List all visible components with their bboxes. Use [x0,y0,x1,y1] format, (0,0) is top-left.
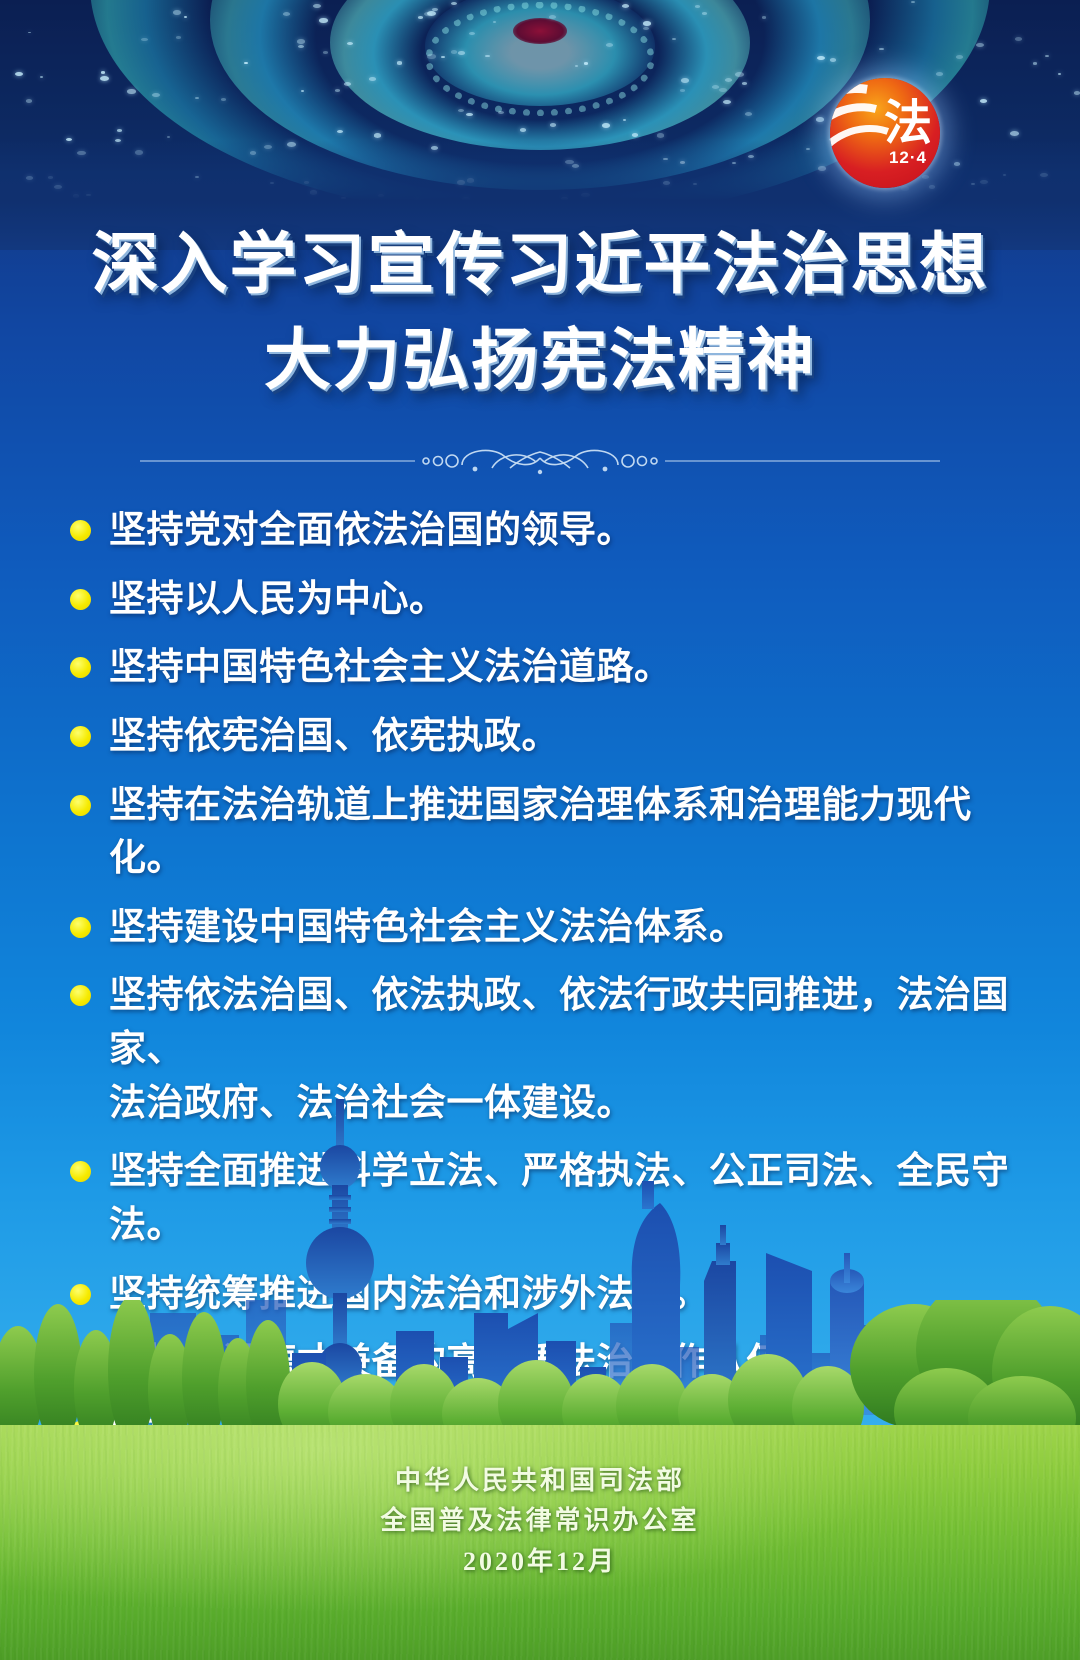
star-dot [1015,37,1023,41]
poster-root: 法 12·4 深入学习宣传习近平法治思想 大力弘扬宪法精神 [0,0,1080,1660]
star-dot [127,89,135,94]
list-item: 坚持建设中国特色社会主义法治体系。 [70,901,1020,955]
list-item-line-1: 坚持依法治国、依法执政、依法行政共同推进，法治国家、 [109,975,1009,1070]
star-dot [980,99,987,103]
list-item-line-1: 坚持建设中国特色社会主义法治体系。 [109,907,747,948]
star-dot [1058,73,1062,75]
title-line-2: 大力弘扬宪法精神 [0,318,1080,404]
star-dot [141,38,148,42]
star-dot [712,85,719,89]
star-dot [725,78,732,82]
star-dot [397,61,403,64]
list-item-line-1: 坚持以人民为中心。 [109,579,447,620]
star-dot [283,12,291,16]
star-dot [816,117,824,121]
list-item: 坚持在法治轨道上推进国家治理体系和治理能力现代化。 [70,779,1020,886]
star-dot [956,55,963,59]
bullet-dot-icon [70,917,91,938]
list-item-text: 坚持中国特色社会主义法治道路。 [109,641,672,695]
star-dot [152,93,160,97]
star-dot [622,4,630,8]
star-dot [719,88,727,92]
star-dot [623,119,626,121]
star-dot [817,56,825,60]
star-dot [458,51,464,55]
list-item-line-1: 坚持党对全面依法治国的领导。 [109,510,634,551]
star-dot [602,123,610,128]
star-dot [498,111,504,114]
star-dot [584,62,589,65]
poster-footer: 中华人民共和国司法部 全国普及法律常识办公室 2020年12月 [0,1461,1080,1582]
star-dot [427,11,436,16]
star-dot [466,113,473,117]
star-dot [762,16,766,18]
list-item: 坚持党对全面依法治国的领导。 [70,504,1020,558]
star-dot [301,90,305,92]
poster-title-block: 深入学习宣传习近平法治思想 大力弘扬宪法精神 [0,222,1080,404]
star-dot [680,89,685,92]
star-dot [418,16,423,19]
star-dot [297,39,305,43]
star-dot [1010,131,1019,136]
star-dot [313,4,321,8]
bullet-dot-icon [70,657,91,678]
bullet-dot-icon [70,589,91,610]
star-dot [695,5,700,8]
list-item-line-1: 坚持在法治轨道上推进国家治理体系和治理能力现代化。 [109,785,972,880]
star-dot [550,123,556,126]
star-dot [657,133,665,137]
footer-date: 2020年12月 [0,1542,1080,1582]
star-dot [643,21,651,25]
footer-organization: 中华人民共和国司法部 [0,1461,1080,1501]
star-dot [184,16,187,18]
star-dot [632,133,639,137]
star-dot [549,15,556,19]
bullet-dot-icon [70,520,91,541]
star-dot [441,56,444,58]
list-item-line-1: 坚持依宪治国、依宪执政。 [109,716,559,757]
list-item-text: 坚持依宪治国、依宪执政。 [109,710,559,764]
star-dot [374,133,382,137]
star-dot [469,32,475,35]
star-dot [298,45,304,48]
star-dot [26,99,32,102]
star-dot [221,98,226,101]
star-dot [493,21,496,23]
star-dot [176,36,181,39]
star-dot [520,128,526,131]
list-item-line-1: 坚持中国特色社会主义法治道路。 [109,647,672,688]
star-dot [427,54,435,58]
constitution-day-logo-icon: 法 12·4 [830,78,940,188]
star-dot [451,50,457,53]
star-dot [28,32,31,34]
list-item-text: 坚持以人民为中心。 [109,573,447,627]
star-dot [575,65,578,67]
star-dot [100,76,109,81]
star-dot [830,58,836,61]
star-dot [167,136,170,138]
star-dot [15,72,23,77]
star-dot [735,72,744,77]
star-dot [672,38,676,40]
star-dot [742,82,747,85]
star-dot [347,42,353,46]
star-dot [244,62,247,64]
logo-character: 法 [884,100,932,148]
list-item-text: 坚持建设中国特色社会主义法治体系。 [109,901,747,955]
star-dot [451,2,457,5]
star-dot [323,51,328,54]
star-dot [458,109,464,113]
star-dot [1033,62,1037,64]
star-dot [745,112,753,116]
ornament-divider [0,428,1080,478]
star-dot [40,76,43,78]
star-dot [117,129,122,132]
list-item-text: 坚持党对全面依法治国的领导。 [109,504,634,558]
star-dot [1045,55,1050,57]
star-dot [344,82,352,86]
title-line-1: 深入学习宣传习近平法治思想 [0,222,1080,308]
star-dot [335,89,340,92]
star-dot [643,27,650,31]
bullet-dot-icon [70,726,91,747]
star-dot [702,12,707,15]
star-dot [173,10,181,15]
star-dot [369,77,376,81]
star-dot [911,1,915,3]
star-dot [723,100,731,104]
star-dot [337,130,342,133]
star-dot [606,43,613,47]
star-dot [101,71,105,73]
star-dot [195,97,199,99]
list-item: 坚持以人民为中心。 [70,573,1020,627]
star-dot [879,48,883,50]
footer-office: 全国普及法律常识办公室 [0,1501,1080,1541]
bullet-dot-icon [70,985,91,1006]
bullet-dot-icon [70,795,91,816]
star-dot [1074,91,1080,94]
star-dot [319,18,327,23]
star-dot [976,43,984,47]
list-item-text: 坚持在法治轨道上推进国家治理体系和治理能力现代化。 [109,779,1020,886]
logo-date-label: 12·4 [889,148,927,168]
list-item: 坚持依宪治国、依宪执政。 [70,710,1020,764]
star-dot [681,78,689,83]
list-item: 坚持中国特色社会主义法治道路。 [70,641,1020,695]
star-dot [936,72,943,76]
star-dot [485,55,489,57]
